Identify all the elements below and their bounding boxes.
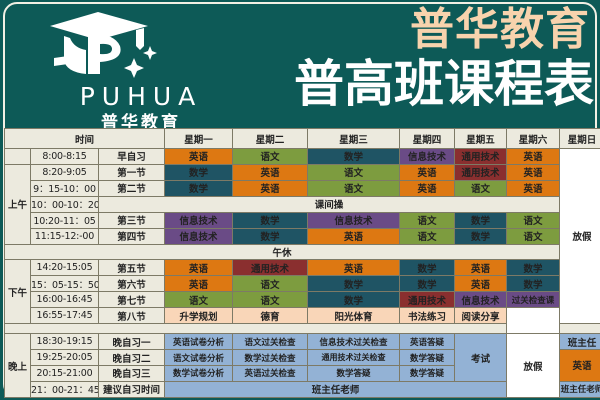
session-label-evening: 晚上 (5, 334, 31, 398)
cell-fri[interactable]: 英语 (455, 260, 507, 276)
cell-sat[interactable]: 英语 (507, 180, 560, 196)
cell-wed[interactable]: 阳光体育 (308, 308, 400, 324)
cell-sat[interactable]: 语文 (507, 212, 560, 228)
band-exercise: 课间操 (99, 196, 560, 212)
cell-thu[interactable]: 数学答疑 (400, 365, 455, 381)
header-day-tue: 星期二 (233, 129, 308, 149)
row-time: 21：00-21：45 (31, 381, 99, 397)
header-day-sun: 星期日 (560, 129, 600, 149)
cell-tue[interactable]: 数学 (233, 212, 308, 228)
cell-mon[interactable]: 数学 (165, 180, 233, 196)
cell-thu[interactable]: 书法练习 (400, 308, 455, 324)
cell-sat[interactable]: 英语 (507, 164, 560, 180)
table-row: 下午 14:20-15:05 第五节 英语 通用技术 英语 数学 英语 数学 (5, 260, 600, 276)
row-period: 建议自习时间 (99, 381, 165, 397)
cell-headteacher-all[interactable]: 班主任老师 (165, 381, 507, 397)
cell-mon[interactable]: 英语 (165, 276, 233, 292)
cell-mon[interactable]: 英语 (165, 149, 233, 165)
table-row: 9：15-10：00 第二节 数学 英语 语文 英语 语文 英语 (5, 180, 600, 196)
cell-fri[interactable]: 英语 (455, 276, 507, 292)
row-period: 晚自习三 (99, 365, 165, 381)
course-schedule-poster: PUHUA 普华教育 普华教育 普高班课程表 时间 星期一 星期二 星期三 星期… (0, 0, 600, 400)
row-time: 9：15-10：00 (31, 180, 99, 196)
row-period: 第八节 (99, 308, 165, 324)
cell-thu[interactable]: 通用技术 (400, 292, 455, 308)
cell-fri[interactable]: 数学 (455, 228, 507, 244)
cell-sunday-holiday[interactable]: 放假 (560, 149, 600, 324)
cell-thu[interactable]: 语文 (400, 228, 455, 244)
table-row: 16:55-17:45 第八节 升学规划 德育 阳光体育 书法练习 阅读分享 (5, 308, 600, 324)
cell-fri[interactable]: 语文 (455, 180, 507, 196)
cell-sat-empty[interactable] (507, 308, 560, 334)
graduation-cap-icon (40, 10, 160, 82)
cell-tue[interactable]: 数学 (233, 228, 308, 244)
row-time: 10：00-10：20 (31, 196, 99, 212)
row-time: 20:15-21:00 (31, 365, 99, 381)
row-time: 18:30-19:15 (31, 334, 99, 350)
session-label-afternoon: 下午 (5, 260, 31, 324)
row-period: 晚自习一 (99, 334, 165, 350)
row-period: 第七节 (99, 292, 165, 308)
cell-sun-evening-2[interactable]: 英语 (560, 350, 600, 382)
row-period: 早自习 (99, 149, 165, 165)
cell-mon[interactable]: 数学 (165, 164, 233, 180)
cell-sat[interactable]: 语文 (507, 228, 560, 244)
row-period: 第三节 (99, 212, 165, 228)
cell-thu[interactable]: 英语 (400, 180, 455, 196)
cell-wed[interactable]: 数学 (308, 276, 400, 292)
table-row: 上午 8:20-9:05 第一节 数学 英语 语文 英语 通用技术 英语 (5, 164, 600, 180)
table-row: 午休 (5, 244, 600, 260)
row-time: 14:20-15:05 (31, 260, 99, 276)
poster-title-main: 普高班课程表 (294, 56, 594, 112)
cell-fri-exam[interactable]: 考试 (455, 334, 507, 382)
cell-wed[interactable]: 语文 (308, 164, 400, 180)
cell-mon[interactable]: 英语 (165, 260, 233, 276)
cell-wed[interactable]: 数学 (308, 292, 400, 308)
schedule-table: 时间 星期一 星期二 星期三 星期四 星期五 星期六 星期日 8:00-8:15… (4, 128, 600, 398)
cell-sun-evening-3[interactable]: 班主任老师 (560, 381, 600, 397)
cell-wed[interactable]: 信息技术过关检查 (308, 334, 400, 350)
cell-thu[interactable]: 信息技术 (400, 149, 455, 165)
row-time: 16:00-16:45 (31, 292, 99, 308)
cell-fri[interactable]: 数学 (455, 212, 507, 228)
row-period: 晚自习二 (99, 350, 165, 366)
cell-tue[interactable]: 通用技术 (233, 260, 308, 276)
row-period: 第二节 (99, 180, 165, 196)
cell-wed[interactable]: 数学答疑 (308, 365, 400, 381)
header-day-mon: 星期一 (165, 129, 233, 149)
cell-fri[interactable]: 阅读分享 (455, 308, 507, 324)
row-time: 16:55-17:45 (31, 308, 99, 324)
header-day-wed: 星期三 (308, 129, 400, 149)
cell-fri[interactable]: 通用技术 (455, 149, 507, 165)
table-row: 15：05-15：50 第六节 英语 语文 数学 数学 英语 数学 (5, 276, 600, 292)
cell-fri[interactable]: 通用技术 (455, 164, 507, 180)
cell-mon[interactable]: 信息技术 (165, 228, 233, 244)
cell-wed[interactable]: 英语 (308, 260, 400, 276)
row-period: 第六节 (99, 276, 165, 292)
schedule-table-wrap: 时间 星期一 星期二 星期三 星期四 星期五 星期六 星期日 8:00-8:15… (4, 128, 596, 398)
cell-mon[interactable]: 升学规划 (165, 308, 233, 324)
cell-thu[interactable]: 数学答疑 (400, 350, 455, 366)
table-row: 8:00-8:15 早自习 英语 语文 数学 信息技术 通用技术 英语 放假 (5, 149, 600, 165)
row-period: 第五节 (99, 260, 165, 276)
cell-tue[interactable]: 英语 (233, 164, 308, 180)
cell-sat[interactable]: 数学 (507, 276, 560, 292)
cell-wed[interactable]: 数学 (308, 149, 400, 165)
session-label-morning: 上午 (5, 164, 31, 244)
cell-wed[interactable]: 语文 (308, 180, 400, 196)
cell-tue[interactable]: 数学过关检查 (233, 350, 308, 366)
cell-wed[interactable]: 通用技术过关检查 (308, 350, 400, 366)
table-row: 16:00-16:45 第七节 语文 语文 数学 通用技术 信息技术 过关检查课 (5, 292, 600, 308)
header-day-fri: 星期五 (455, 129, 507, 149)
row-time: 15：05-15：50 (31, 276, 99, 292)
cell-tue[interactable]: 语文 (233, 276, 308, 292)
row-time: 19:25-20:05 (31, 350, 99, 366)
cell-sun-evening-1[interactable]: 班主任 (560, 334, 600, 350)
header-time: 时间 (5, 129, 165, 149)
table-header-row: 时间 星期一 星期二 星期三 星期四 星期五 星期六 星期日 (5, 129, 600, 149)
cell-thu[interactable]: 数学 (400, 260, 455, 276)
cell-tue[interactable]: 德育 (233, 308, 308, 324)
cell-sat-holiday[interactable]: 放假 (507, 334, 560, 398)
cell-wed[interactable]: 信息技术 (308, 212, 400, 228)
header-day-thu: 星期四 (400, 129, 455, 149)
session-label-blank (5, 149, 31, 165)
cell-sat[interactable]: 过关检查课 (507, 292, 560, 308)
cell-mon[interactable]: 数学试卷分析 (165, 365, 233, 381)
cell-thu[interactable]: 数学 (400, 276, 455, 292)
cell-wed[interactable]: 英语 (308, 228, 400, 244)
brand-wordmark: PUHUA (26, 82, 256, 111)
row-time: 8:20-9:05 (31, 164, 99, 180)
cell-mon[interactable]: 语文试卷分析 (165, 350, 233, 366)
brand-logo: PUHUA 普华教育 (18, 8, 268, 124)
row-period: 第四节 (99, 228, 165, 244)
cell-thu[interactable]: 语文 (400, 212, 455, 228)
cell-fri[interactable]: 信息技术 (455, 292, 507, 308)
poster-title-top: 普华教育 (410, 6, 590, 54)
poster-header: PUHUA 普华教育 普华教育 普高班课程表 (0, 0, 600, 128)
section-separator (5, 324, 507, 334)
cell-thu[interactable]: 英语答疑 (400, 334, 455, 350)
cell-tue[interactable]: 语文 (233, 149, 308, 165)
row-time: 11:15-12:-00 (31, 228, 99, 244)
cell-thu[interactable]: 英语 (400, 164, 455, 180)
row-time: 8:00-8:15 (31, 149, 99, 165)
cell-tue[interactable]: 英语 (233, 180, 308, 196)
cell-mon[interactable]: 语文 (165, 292, 233, 308)
cell-sat[interactable]: 数学 (507, 260, 560, 276)
table-row: 晚上 18:30-19:15 晚自习一 英语试卷分析 语文过关检查 信息技术过关… (5, 334, 600, 350)
table-row: 10：00-10：20 课间操 (5, 196, 600, 212)
cell-tue[interactable]: 语文过关检查 (233, 334, 308, 350)
cell-tue[interactable]: 英语过关检查 (233, 365, 308, 381)
row-period: 第一节 (99, 164, 165, 180)
cell-tue[interactable]: 语文 (233, 292, 308, 308)
band-lunch-break: 午休 (5, 244, 560, 260)
header-day-sat: 星期六 (507, 129, 560, 149)
cell-sat[interactable]: 英语 (507, 149, 560, 165)
cell-mon[interactable]: 信息技术 (165, 212, 233, 228)
row-time: 10:20-11：05 (31, 212, 99, 228)
table-row: 10:20-11：05 第三节 信息技术 数学 信息技术 语文 数学 语文 (5, 212, 600, 228)
table-row: 11:15-12:-00 第四节 信息技术 数学 英语 语文 数学 语文 (5, 228, 600, 244)
cell-mon[interactable]: 英语试卷分析 (165, 334, 233, 350)
